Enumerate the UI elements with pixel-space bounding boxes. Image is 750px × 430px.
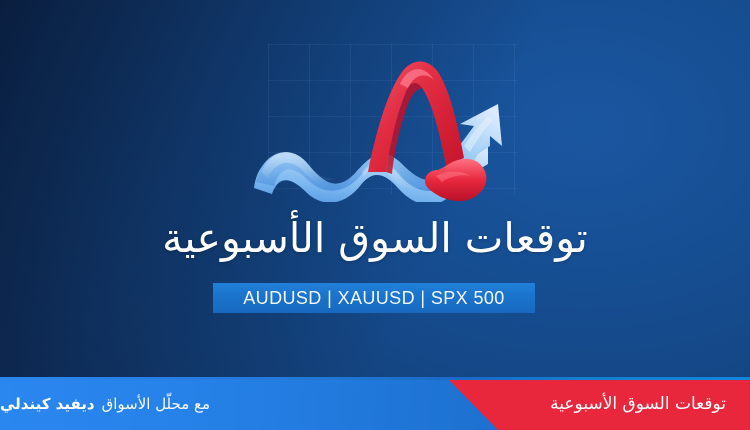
page-title: توقعات السوق الأسبوعية xyxy=(0,214,750,262)
footer-bar: مع محلّل الأسواق ديفيد كيندلي توقعات الس… xyxy=(0,377,750,430)
presenter-label: مع محلّل الأسواق xyxy=(102,395,210,413)
market-wave-arrow-logo xyxy=(250,46,512,202)
logo-red-peak xyxy=(368,62,464,173)
footer-show-title: توقعات السوق الأسبوعية xyxy=(550,377,726,430)
slide-canvas: توقعات السوق الأسبوعية AUDUSD | XAUUSD |… xyxy=(0,0,750,430)
presenter-name: ديفيد كيندلي xyxy=(0,395,95,413)
presenter-credit: مع محلّل الأسواق ديفيد كيندلي xyxy=(0,377,300,430)
instruments-badge: AUDUSD | XAUUSD | SPX 500 xyxy=(213,283,535,313)
